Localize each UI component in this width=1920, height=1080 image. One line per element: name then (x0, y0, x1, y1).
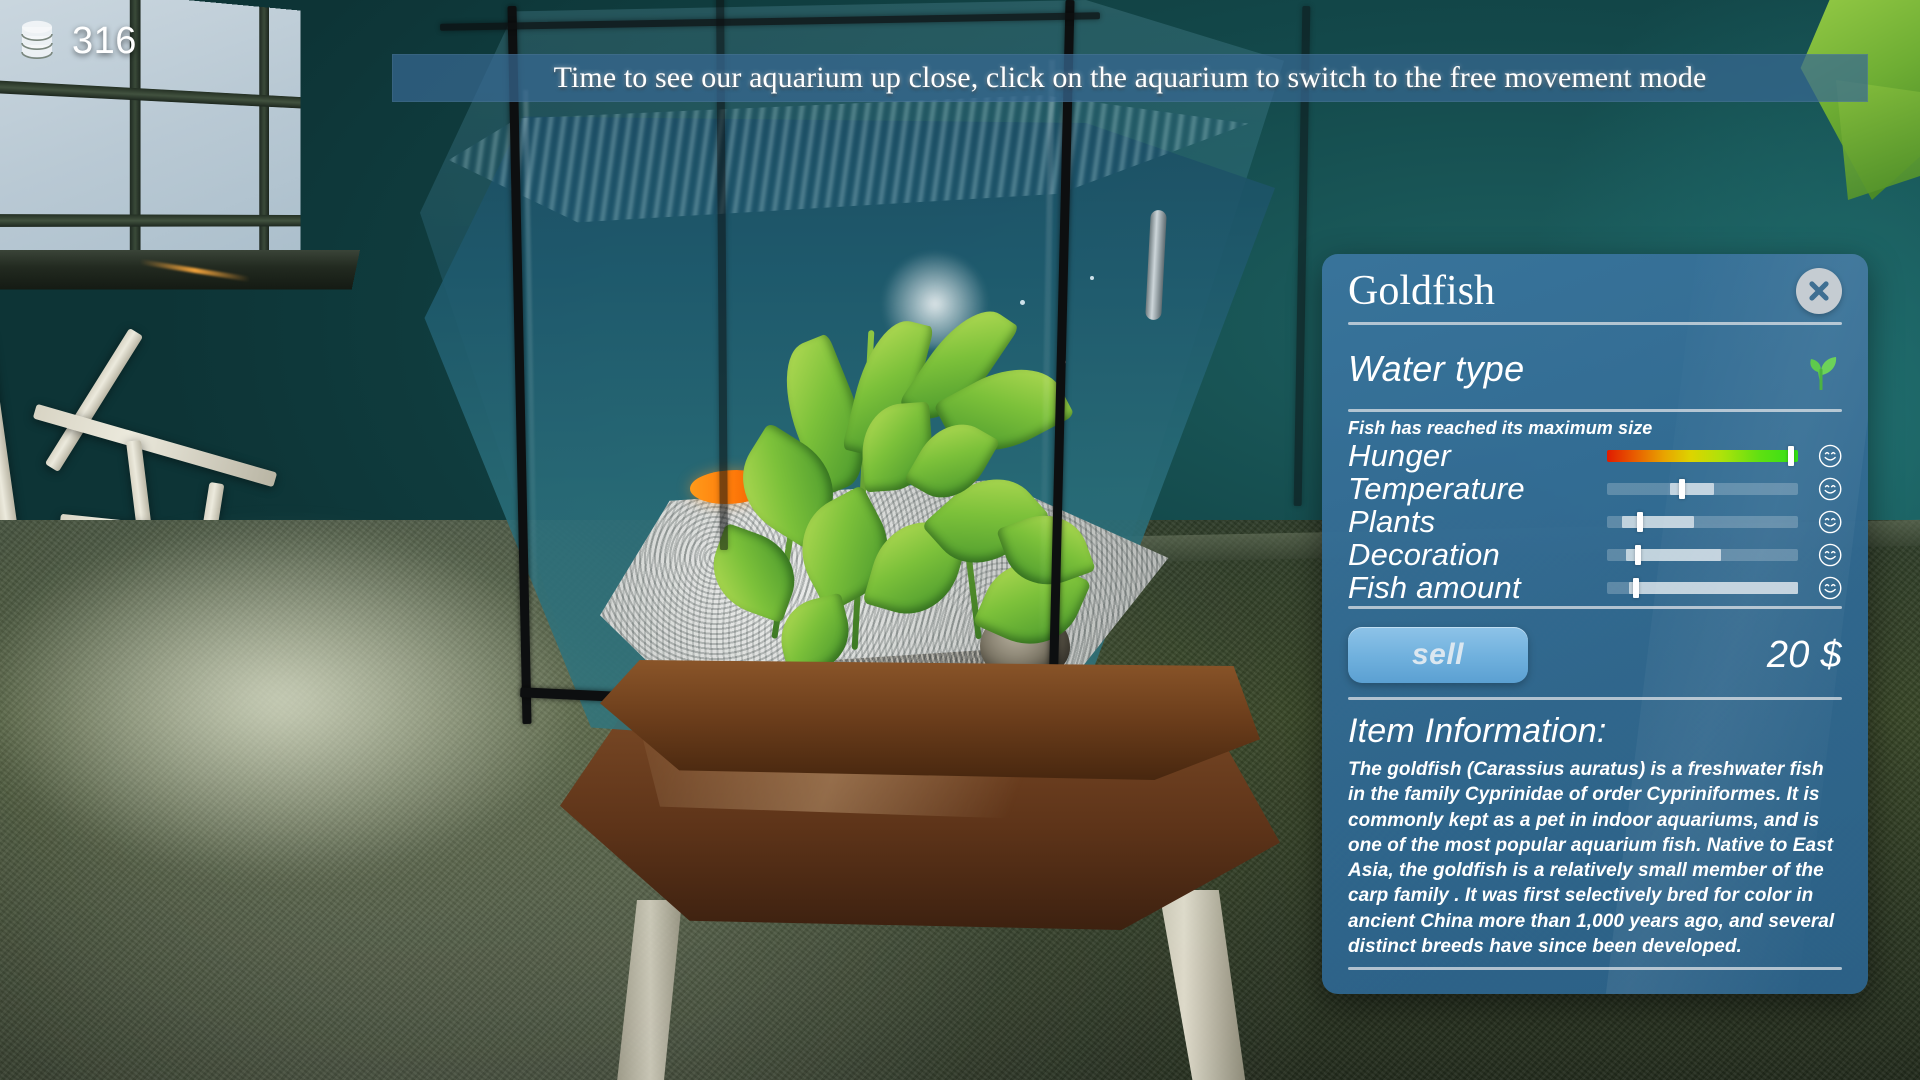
stat-zone (1670, 483, 1714, 495)
fish-info-panel[interactable]: Goldfish Water type Fish has reached its… (1322, 254, 1868, 994)
tutorial-banner: Time to see our aquarium up close, click… (392, 54, 1868, 102)
stat-bar-hunger[interactable] (1607, 450, 1798, 462)
stat-bar-plants[interactable] (1607, 516, 1798, 528)
close-icon[interactable] (1796, 268, 1842, 314)
stat-bar-temperature[interactable] (1607, 483, 1798, 495)
item-information-heading: Item Information: (1348, 712, 1842, 751)
stat-marker (1679, 479, 1685, 499)
stat-label: Hunger (1348, 438, 1607, 474)
money-amount: 316 (72, 20, 137, 63)
stat-marker (1633, 578, 1639, 598)
window-mullion-vertical (259, 7, 269, 274)
stat-marker (1635, 545, 1641, 565)
water-type-row: Water type (1348, 331, 1842, 407)
smiley-happy-icon (1818, 476, 1842, 502)
item-information-text: The goldfish (Carassius auratus) is a fr… (1348, 757, 1842, 959)
coin-stack-icon (16, 18, 58, 64)
smiley-happy-icon (1818, 542, 1842, 568)
aquarium-wood-base (600, 660, 1260, 780)
water-type-label: Water type (1348, 348, 1524, 390)
sell-price: 20 $ (1767, 634, 1842, 677)
stats-list: Hunger Temperature (1348, 439, 1842, 604)
sell-row: sell 20 $ (1348, 615, 1842, 695)
stat-bar-fish-amount[interactable] (1607, 582, 1798, 594)
money-hud: 316 (16, 18, 137, 64)
stat-marker (1637, 512, 1643, 532)
divider (1348, 697, 1842, 700)
smiley-happy-icon (1818, 575, 1842, 601)
stat-label: Fish amount (1348, 570, 1607, 606)
divider (1348, 606, 1842, 609)
stat-row[interactable]: Decoration (1348, 538, 1842, 571)
stat-label: Decoration (1348, 537, 1607, 573)
stat-row[interactable]: Plants (1348, 505, 1842, 538)
bubble (1090, 276, 1094, 280)
panel-header: Goldfish (1348, 254, 1842, 320)
page-title: Goldfish (1348, 270, 1495, 312)
stat-row[interactable]: Hunger (1348, 439, 1842, 472)
stat-row[interactable]: Fish amount (1348, 571, 1842, 604)
stat-label: Temperature (1348, 471, 1607, 507)
max-size-note: Fish has reached its maximum size (1348, 418, 1842, 439)
divider (1348, 967, 1842, 970)
bubble (1020, 300, 1025, 305)
game-screen: 316 Time to see our aquarium up close, c… (0, 0, 1920, 1080)
sell-button[interactable]: sell (1348, 627, 1528, 683)
smiley-happy-icon (1818, 509, 1842, 535)
window-mullion-horizontal (0, 214, 300, 227)
stat-zone (1629, 582, 1797, 594)
stat-bar-decoration[interactable] (1607, 549, 1798, 561)
stat-zone (1622, 516, 1695, 528)
stat-row[interactable]: Temperature (1348, 472, 1842, 505)
stat-marker (1788, 446, 1794, 466)
stat-label: Plants (1348, 504, 1607, 540)
sell-button-label: sell (1412, 638, 1464, 672)
tutorial-message: Time to see our aquarium up close, click… (554, 61, 1707, 95)
divider (1348, 409, 1842, 412)
smiley-happy-icon (1818, 443, 1842, 469)
plant-sprout-icon (1800, 348, 1842, 390)
divider (1348, 322, 1842, 325)
